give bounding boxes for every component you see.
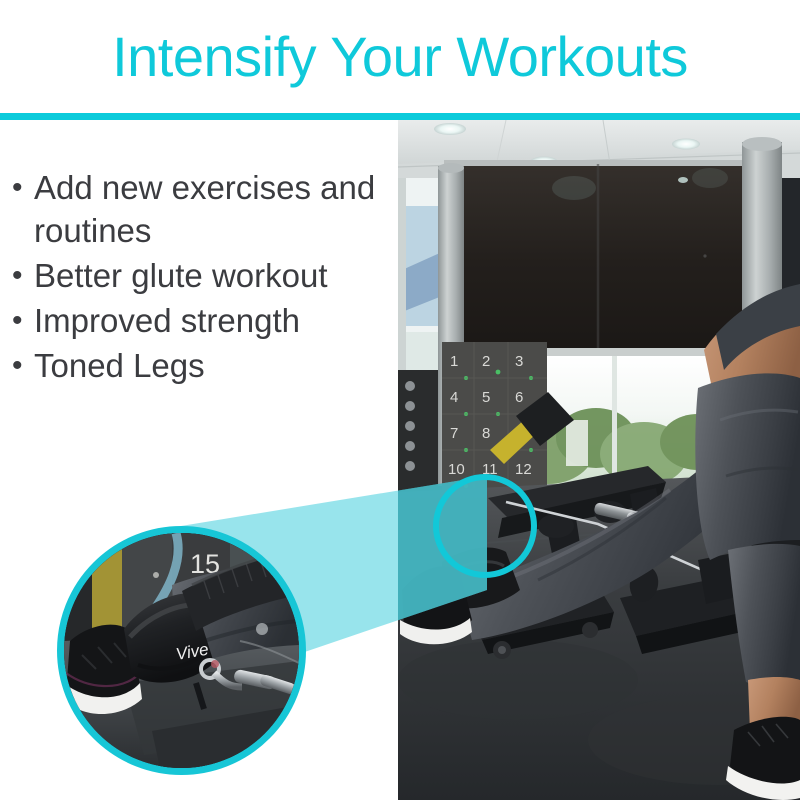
svg-text:12: 12 xyxy=(515,461,532,478)
header-banner: Intensify Your Workouts xyxy=(0,0,800,113)
list-item-label: Add new exercises and routines xyxy=(34,166,392,252)
svg-text:6: 6 xyxy=(515,389,523,406)
svg-text:2: 2 xyxy=(482,353,490,370)
list-item: • Toned Legs xyxy=(12,344,392,387)
benefits-list: • Add new exercises and routines • Bette… xyxy=(12,166,392,389)
svg-text:1: 1 xyxy=(450,353,458,370)
bullet-dot-icon: • xyxy=(12,166,34,209)
svg-text:10: 10 xyxy=(448,461,465,478)
page-title: Intensify Your Workouts xyxy=(112,29,688,85)
list-item: • Better glute workout xyxy=(12,254,392,297)
svg-text:8: 8 xyxy=(482,425,490,442)
bullet-dot-icon: • xyxy=(12,254,34,297)
gym-photo: Woman in dark grey leggings and sports b… xyxy=(398,120,800,800)
header-divider-rule xyxy=(0,113,800,120)
svg-text:4: 4 xyxy=(450,389,458,406)
list-item: • Add new exercises and routines xyxy=(12,166,392,252)
list-item-label: Improved strength xyxy=(34,299,392,342)
svg-text:5: 5 xyxy=(482,389,490,406)
focus-ring-indicator xyxy=(433,474,537,578)
list-item-label: Toned Legs xyxy=(34,344,392,387)
infographic-canvas: Intensify Your Workouts • Add new exerci… xyxy=(0,0,800,800)
bullet-dot-icon: • xyxy=(12,299,34,342)
svg-text:3: 3 xyxy=(515,353,523,370)
svg-text:7: 7 xyxy=(450,425,458,442)
list-item: • Improved strength xyxy=(12,299,392,342)
magnified-detail-circle: Close-up of the padded ankle strap attac… xyxy=(57,526,306,775)
bullet-dot-icon: • xyxy=(12,344,34,387)
list-item-label: Better glute workout xyxy=(34,254,392,297)
